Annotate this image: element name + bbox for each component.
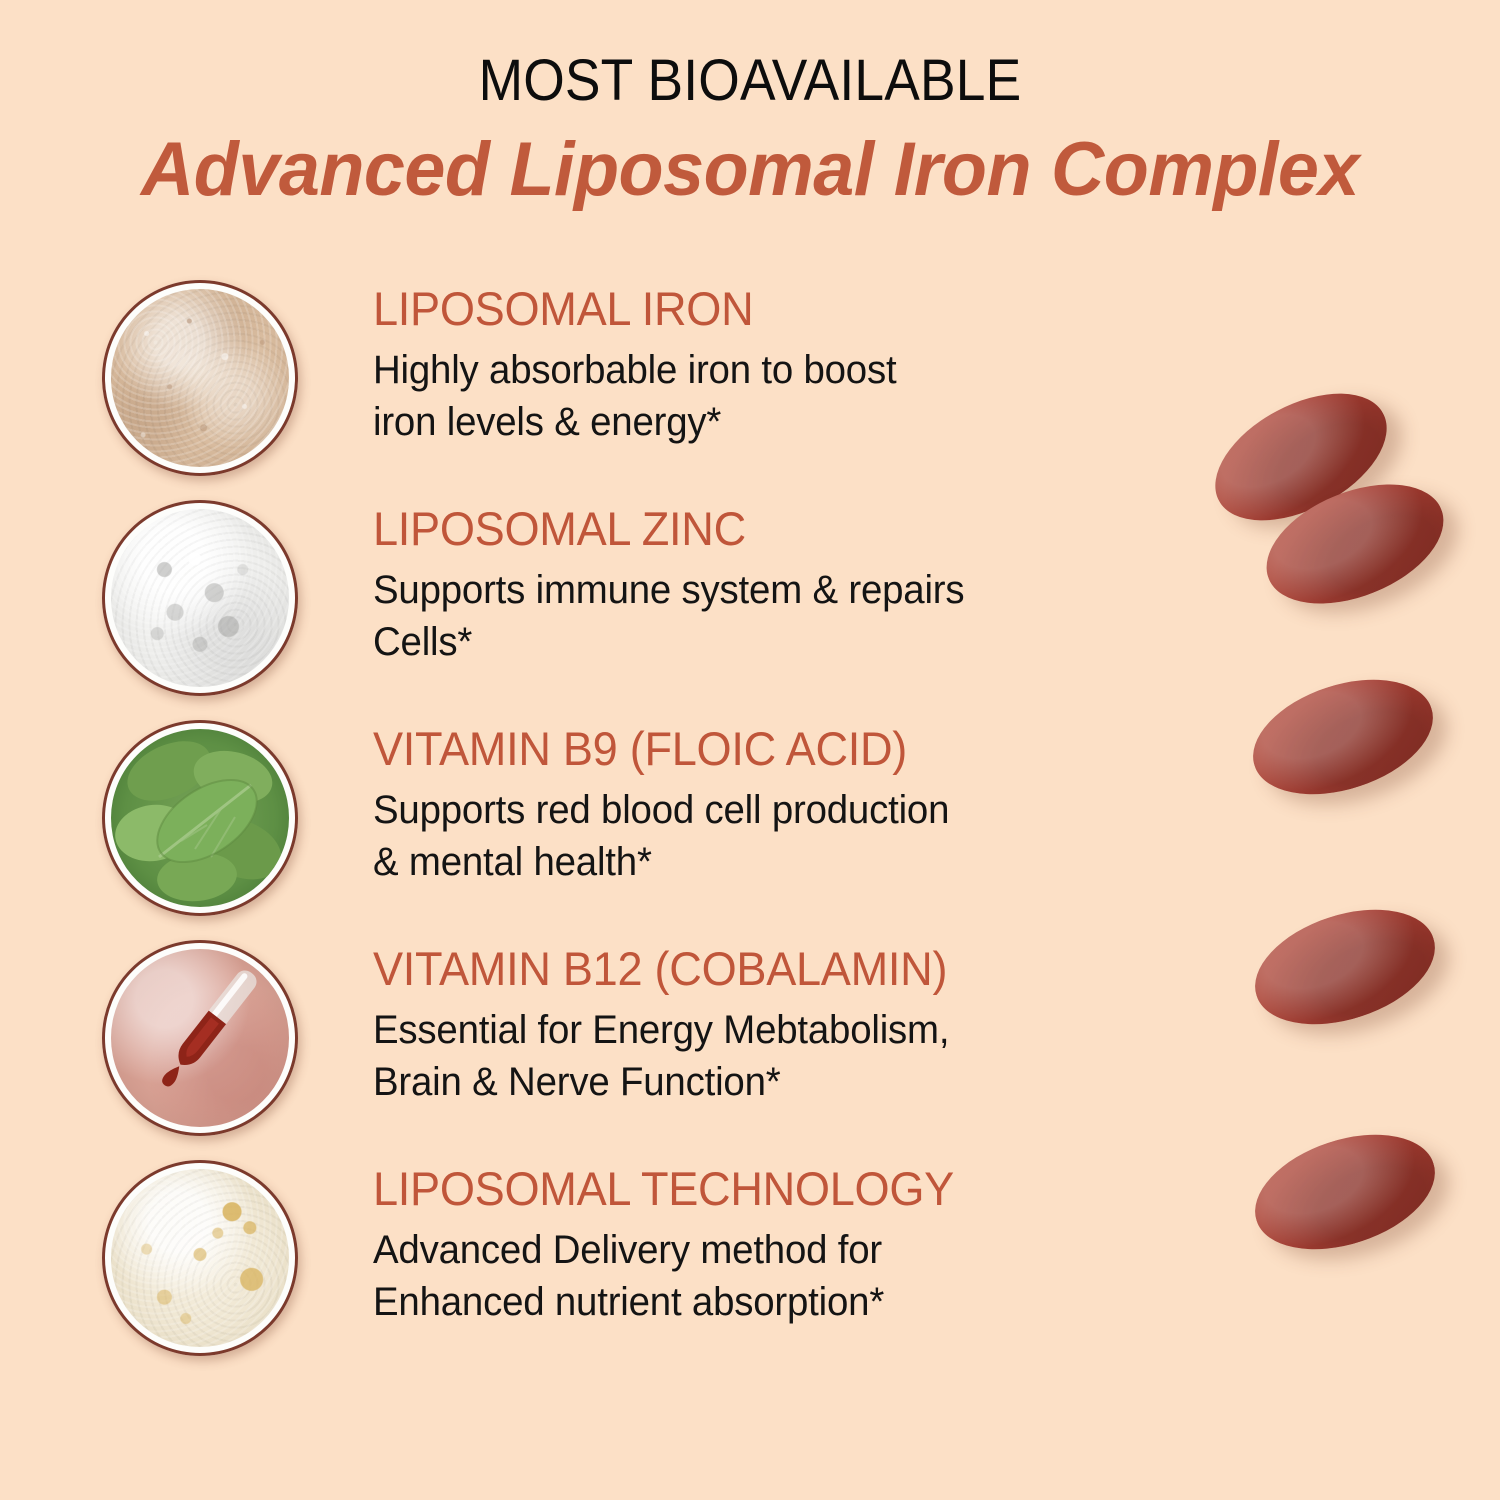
feature-heading: VITAMIN B12 (COBALAMIN)	[373, 944, 949, 993]
feature-text: VITAMIN B12 (COBALAMIN) Essential for En…	[298, 936, 973, 1108]
feature-text: VITAMIN B9 (FLOIC ACID) Supports red blo…	[298, 716, 973, 888]
feature-body: Highly absorbable iron to boost iron lev…	[373, 344, 896, 448]
list-item: LIPOSOMAL ZINC Supports immune system & …	[96, 496, 1056, 716]
feature-body: Advanced Delivery method for Enhanced nu…	[373, 1224, 954, 1328]
list-item: VITAMIN B12 (COBALAMIN) Essential for En…	[96, 936, 1056, 1156]
liposome-cream-icon	[102, 1160, 298, 1356]
pipette-graphic	[111, 949, 289, 1127]
tablet-3	[1238, 659, 1447, 815]
page-header: MOST BIOAVAILABLE Advanced Liposomal Iro…	[0, 0, 1500, 208]
feature-text: LIPOSOMAL ZINC Supports immune system & …	[298, 496, 989, 668]
list-item: VITAMIN B9 (FLOIC ACID) Supports red blo…	[96, 716, 1056, 936]
spinach-leaves-icon	[102, 720, 298, 916]
list-item: LIPOSOMAL TECHNOLOGY Advanced Delivery m…	[96, 1156, 1056, 1376]
feature-body: Supports immune system & repairs Cells*	[373, 564, 964, 668]
feature-body: Essential for Energy Mebtabolism, Brain …	[373, 1004, 949, 1108]
feature-heading: VITAMIN B9 (FLOIC ACID)	[373, 724, 949, 773]
feature-heading: LIPOSOMAL TECHNOLOGY	[373, 1164, 954, 1213]
dropper-liquid-icon	[102, 940, 298, 1136]
page-title: Advanced Liposomal Iron Complex	[23, 132, 1478, 208]
feature-heading: LIPOSOMAL ZINC	[373, 504, 964, 553]
feature-text: LIPOSOMAL IRON Highly absorbable iron to…	[298, 276, 918, 448]
eyebrow-heading: MOST BIOAVAILABLE	[60, 52, 1440, 110]
feature-heading: LIPOSOMAL IRON	[373, 284, 896, 333]
tablet-4	[1240, 889, 1449, 1045]
feature-list: LIPOSOMAL IRON Highly absorbable iron to…	[96, 276, 1056, 1376]
feature-body: Supports red blood cell production & men…	[373, 784, 949, 888]
leaf-graphic	[111, 729, 289, 907]
iron-powder-icon	[102, 280, 298, 476]
tablet-1	[1194, 367, 1407, 546]
feature-text: LIPOSOMAL TECHNOLOGY Advanced Delivery m…	[298, 1156, 978, 1328]
list-item: LIPOSOMAL IRON Highly absorbable iron to…	[96, 276, 1056, 496]
tablet-5	[1240, 1114, 1449, 1270]
zinc-powder-icon	[102, 500, 298, 696]
tablet-2	[1249, 461, 1460, 627]
